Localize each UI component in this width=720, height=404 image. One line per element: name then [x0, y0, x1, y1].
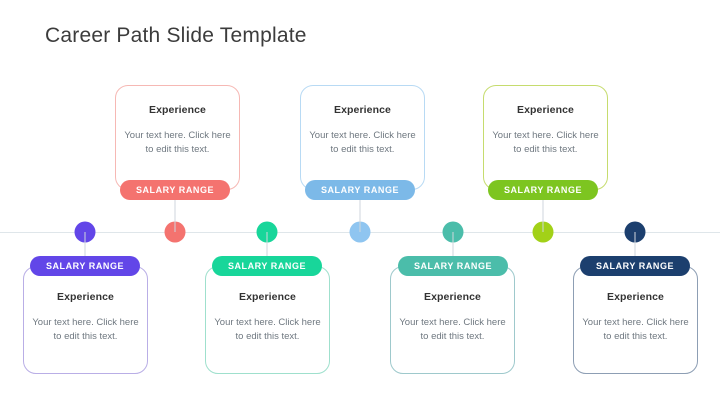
experience-heading: Experience — [399, 291, 506, 303]
experience-body-text: Your text here. Click here to edit this … — [492, 129, 599, 156]
card-content: ExperienceYour text here. Click here to … — [24, 291, 147, 343]
bottom-card-purple[interactable]: ExperienceYour text here. Click here to … — [23, 266, 148, 374]
experience-body-text: Your text here. Click here to edit this … — [32, 316, 139, 343]
page-title: Career Path Slide Template — [45, 24, 307, 48]
experience-heading: Experience — [214, 291, 321, 303]
experience-heading: Experience — [582, 291, 689, 303]
experience-body-text: Your text here. Click here to edit this … — [309, 129, 416, 156]
card-content: ExperienceYour text here. Click here to … — [116, 104, 239, 156]
experience-heading: Experience — [124, 104, 231, 116]
connector-stem — [453, 232, 454, 256]
top-card-pink[interactable]: ExperienceYour text here. Click here to … — [115, 85, 240, 190]
salary-range-pill[interactable]: SALARY RANGE — [30, 256, 140, 276]
top-card-blue[interactable]: ExperienceYour text here. Click here to … — [300, 85, 425, 190]
connector-stem — [267, 232, 268, 256]
salary-range-pill[interactable]: SALARY RANGE — [580, 256, 690, 276]
salary-range-pill[interactable]: SALARY RANGE — [212, 256, 322, 276]
experience-heading: Experience — [492, 104, 599, 116]
career-path-slide: Career Path Slide Template ExperienceYou… — [0, 0, 720, 404]
top-card-green[interactable]: ExperienceYour text here. Click here to … — [483, 85, 608, 190]
connector-stem — [175, 200, 176, 232]
experience-heading: Experience — [32, 291, 139, 303]
connector-stem — [85, 232, 86, 256]
card-content: ExperienceYour text here. Click here to … — [574, 291, 697, 343]
experience-body-text: Your text here. Click here to edit this … — [214, 316, 321, 343]
salary-range-pill[interactable]: SALARY RANGE — [398, 256, 508, 276]
salary-range-pill[interactable]: SALARY RANGE — [305, 180, 415, 200]
connector-stem — [635, 232, 636, 256]
card-content: ExperienceYour text here. Click here to … — [301, 104, 424, 156]
experience-body-text: Your text here. Click here to edit this … — [124, 129, 231, 156]
salary-range-pill[interactable]: SALARY RANGE — [488, 180, 598, 200]
card-content: ExperienceYour text here. Click here to … — [484, 104, 607, 156]
card-content: ExperienceYour text here. Click here to … — [391, 291, 514, 343]
bottom-card-navy[interactable]: ExperienceYour text here. Click here to … — [573, 266, 698, 374]
bottom-card-teal[interactable]: ExperienceYour text here. Click here to … — [390, 266, 515, 374]
experience-heading: Experience — [309, 104, 416, 116]
connector-stem — [543, 200, 544, 232]
salary-range-pill[interactable]: SALARY RANGE — [120, 180, 230, 200]
bottom-card-mint[interactable]: ExperienceYour text here. Click here to … — [205, 266, 330, 374]
card-content: ExperienceYour text here. Click here to … — [206, 291, 329, 343]
connector-stem — [360, 200, 361, 232]
experience-body-text: Your text here. Click here to edit this … — [582, 316, 689, 343]
experience-body-text: Your text here. Click here to edit this … — [399, 316, 506, 343]
